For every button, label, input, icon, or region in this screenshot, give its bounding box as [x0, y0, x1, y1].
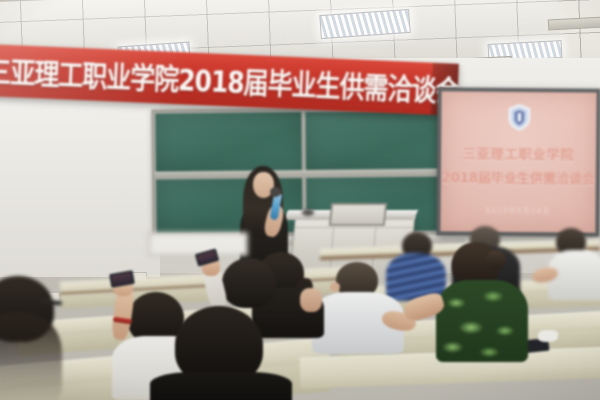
projector-screen-frame: 三亚理工职业学院 2018届毕业生供需洽谈会 2018年5月16日: [436, 87, 600, 236]
screen-line-school: 三亚理工职业学院: [462, 144, 574, 164]
tissue-on-desk: [538, 330, 558, 342]
chalkboard-panel-left: [155, 112, 302, 172]
projector-screen: 三亚理工职业学院 2018届毕业生供需洽谈会 2018年5月16日: [440, 91, 596, 232]
podium-monitor: [329, 203, 387, 226]
screen-line-event: 2018届毕业生供需洽谈会: [442, 167, 595, 187]
long-hair: [0, 312, 62, 400]
phone-raised-center-screen: [197, 251, 217, 265]
phone-raised-left-screen: [111, 272, 132, 285]
microphone-head: [270, 187, 281, 197]
screen-date: 2018年5月16日: [485, 205, 550, 216]
chalkboard-panel-right: [305, 110, 450, 170]
school-shield-emblem-icon: [508, 104, 530, 131]
bun-hair: [486, 250, 506, 270]
lecture-hall-photo: 三亚理工职业学院2018届毕业生供需洽谈会 三亚理工职业学院 2018届毕业生供…: [0, 0, 600, 400]
podium-mouse: [302, 209, 314, 216]
left-wall-panel: [0, 72, 160, 277]
